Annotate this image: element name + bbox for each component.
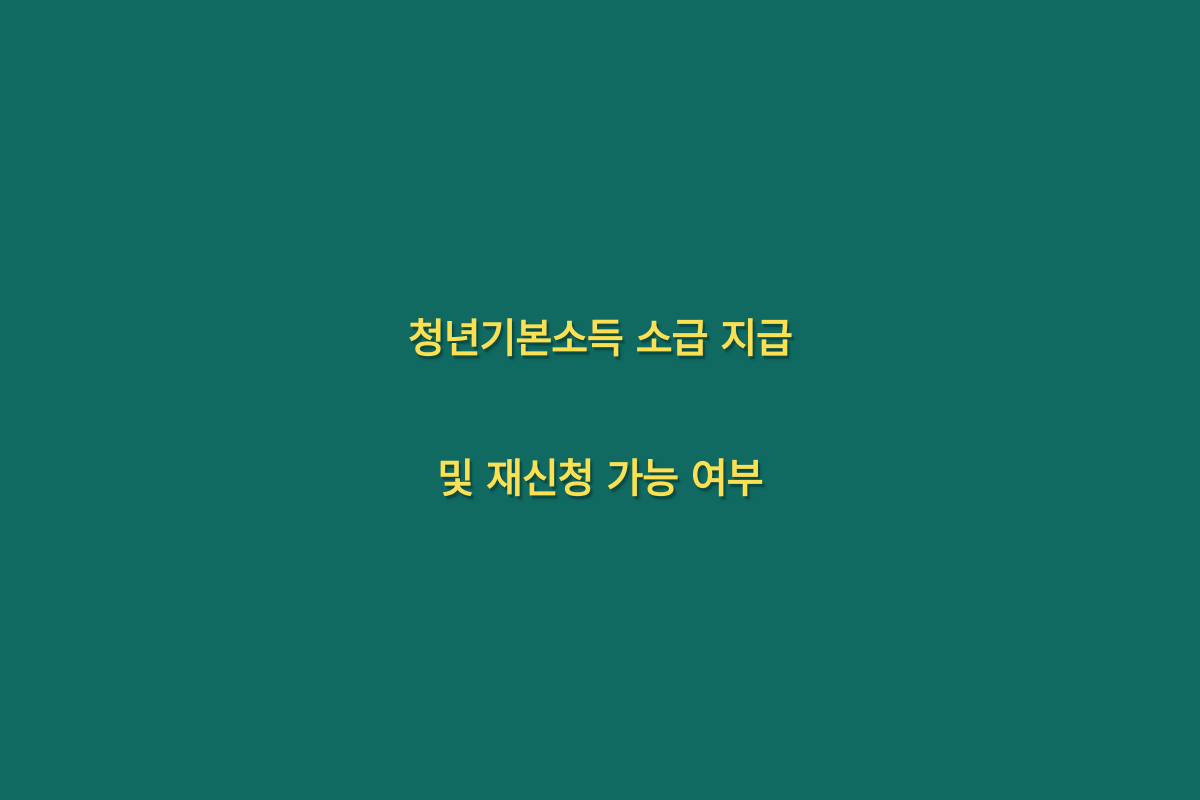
- headline-block: 청년기본소득 소급 지급 및 재신청 가능 여부: [0, 269, 1200, 549]
- banner-canvas: 청년기본소득 소급 지급 및 재신청 가능 여부: [0, 0, 1200, 800]
- headline-line-2: 및 재신청 가능 여부: [40, 409, 1160, 549]
- headline-line-1: 청년기본소득 소급 지급: [40, 269, 1160, 409]
